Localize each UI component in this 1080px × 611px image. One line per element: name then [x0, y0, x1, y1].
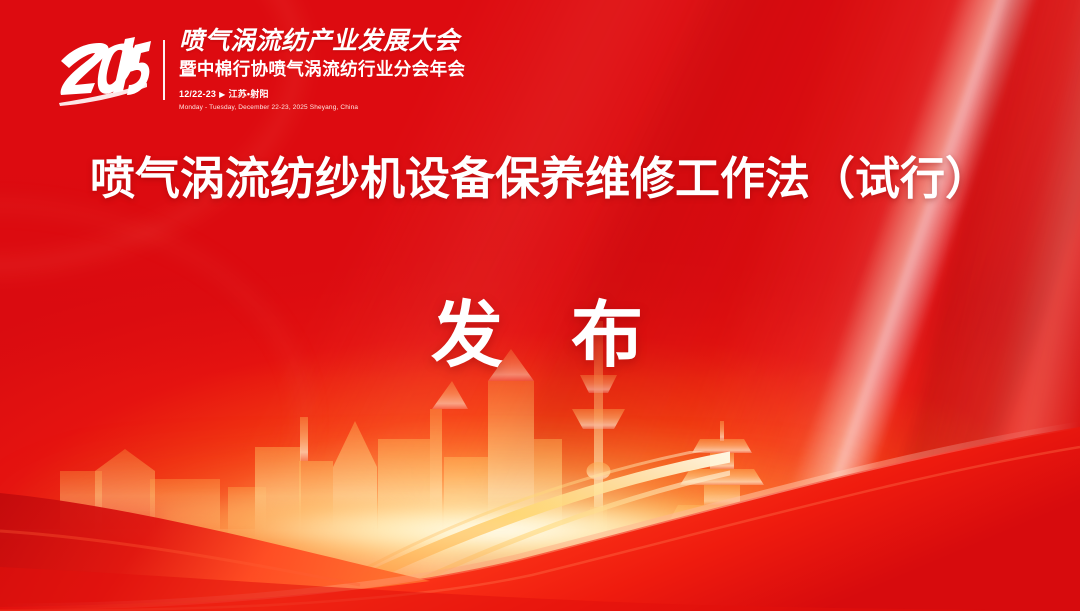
event-date-cn: 12/22-23 [179, 89, 216, 99]
vertical-divider-icon [163, 40, 165, 100]
event-header-text: 喷气涡流纺产业发展大会 暨中棉行协喷气涡流纺行业分会年会 12/22-23▶江苏… [179, 28, 465, 112]
event-header: 喷气涡流纺产业发展大会 暨中棉行协喷气涡流纺行业分会年会 12/22-23▶江苏… [55, 28, 465, 112]
conference-title-line1: 喷气涡流纺产业发展大会 [179, 28, 465, 55]
publish-char-left: 发 [431, 296, 509, 376]
publish-headline: 发布 [0, 300, 1080, 372]
publish-char-right: 布 [571, 296, 649, 376]
event-date-location-cn: 12/22-23▶江苏•射阳 [179, 88, 465, 101]
calligraphy-2025-icon [55, 33, 155, 107]
arrow-icon: ▶ [219, 90, 225, 99]
page-title: 喷气涡流纺纱机设备保养维修工作法（试行） [0, 152, 1080, 205]
event-date-location-en: Monday - Tuesday, December 22-23, 2025 S… [179, 103, 465, 112]
event-location-cn: 江苏•射阳 [229, 89, 269, 99]
presentation-slide: 喷气涡流纺产业发展大会 暨中棉行协喷气涡流纺行业分会年会 12/22-23▶江苏… [0, 0, 1080, 611]
conference-title-line2: 暨中棉行协喷气涡流纺行业分会年会 [179, 58, 465, 81]
